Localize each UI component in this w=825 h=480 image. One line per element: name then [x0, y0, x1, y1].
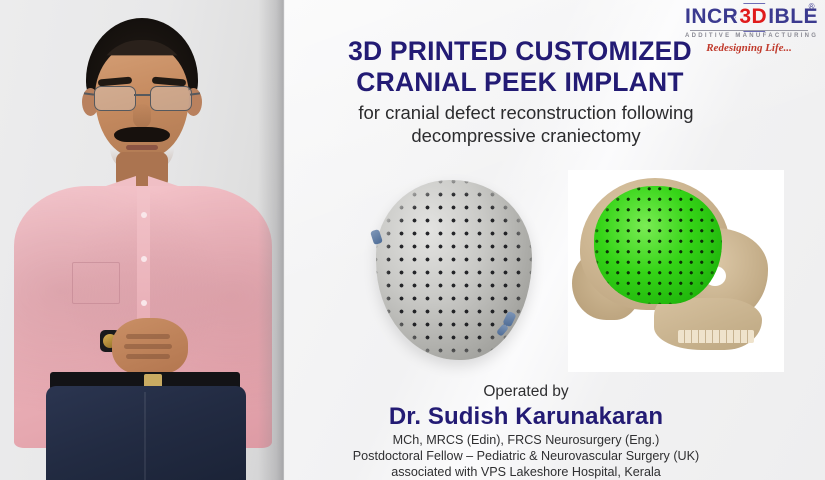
- portrait-mustache: [114, 127, 170, 142]
- shirt-pocket: [72, 262, 120, 304]
- title-line-2: CRANIAL PEEK IMPLANT: [300, 67, 740, 98]
- subtitle-line-2: decompressive craniectomy: [300, 124, 752, 147]
- portrait-finger: [126, 354, 170, 359]
- registered-trademark-icon: ®: [809, 3, 815, 11]
- portrait-finger: [124, 344, 172, 349]
- portrait-photo: [0, 0, 284, 480]
- doctor-name: Dr. Sudish Karunakaran: [300, 402, 752, 431]
- eyeglass-bridge: [134, 94, 150, 96]
- title-line-1: 3D PRINTED CUSTOMIZED: [300, 36, 740, 67]
- poster-canvas: INCR3DIBLE® ADDITIVE MANUFACTURING Redes…: [0, 0, 825, 480]
- skull-render: [568, 170, 784, 372]
- subtitle-line-1: for cranial defect reconstruction follow…: [300, 101, 752, 124]
- logo-3d-accent: 3D: [738, 5, 768, 28]
- eyeglass-lens-right: [150, 86, 192, 111]
- trousers-seam: [144, 392, 146, 480]
- shirt-button: [141, 212, 147, 218]
- implant-photo: [372, 172, 538, 368]
- credit-block: Operated by Dr. Sudish Karunakaran MCh, …: [300, 382, 752, 480]
- doctor-qualifications: MCh, MRCS (Edin), FRCS Neurosurgery (Eng…: [300, 432, 752, 448]
- portrait-trousers: [46, 386, 246, 480]
- panel-divider: [283, 0, 285, 480]
- portrait-nose: [133, 104, 151, 128]
- shirt-button: [141, 256, 147, 262]
- portrait-figure: [0, 0, 284, 480]
- operated-by-label: Operated by: [300, 382, 752, 401]
- implant-perforations: [376, 180, 532, 360]
- doctor-fellowship: Postdoctoral Fellow – Pediatric & Neurov…: [300, 448, 752, 464]
- skull-teeth: [678, 330, 754, 343]
- logo-wordmark: INCR3DIBLE®: [685, 6, 813, 27]
- poster-subtitle: for cranial defect reconstruction follow…: [300, 101, 752, 148]
- portrait-finger: [126, 334, 170, 339]
- photo-edge-shadow: [258, 0, 284, 480]
- poster-title: 3D PRINTED CUSTOMIZED CRANIAL PEEK IMPLA…: [300, 36, 740, 97]
- shirt-button: [141, 300, 147, 306]
- logo-hexagon-icon: 3D: [738, 6, 768, 27]
- doctor-affiliation: associated with VPS Lakeshore Hospital, …: [300, 464, 752, 480]
- portrait-clasped-hands: [112, 318, 188, 374]
- skull-implant-perforations: [594, 186, 722, 304]
- eyeglass-lens-left: [94, 86, 136, 111]
- skull-render-card: [568, 170, 784, 372]
- logo-word-prefix: INCR: [685, 5, 738, 28]
